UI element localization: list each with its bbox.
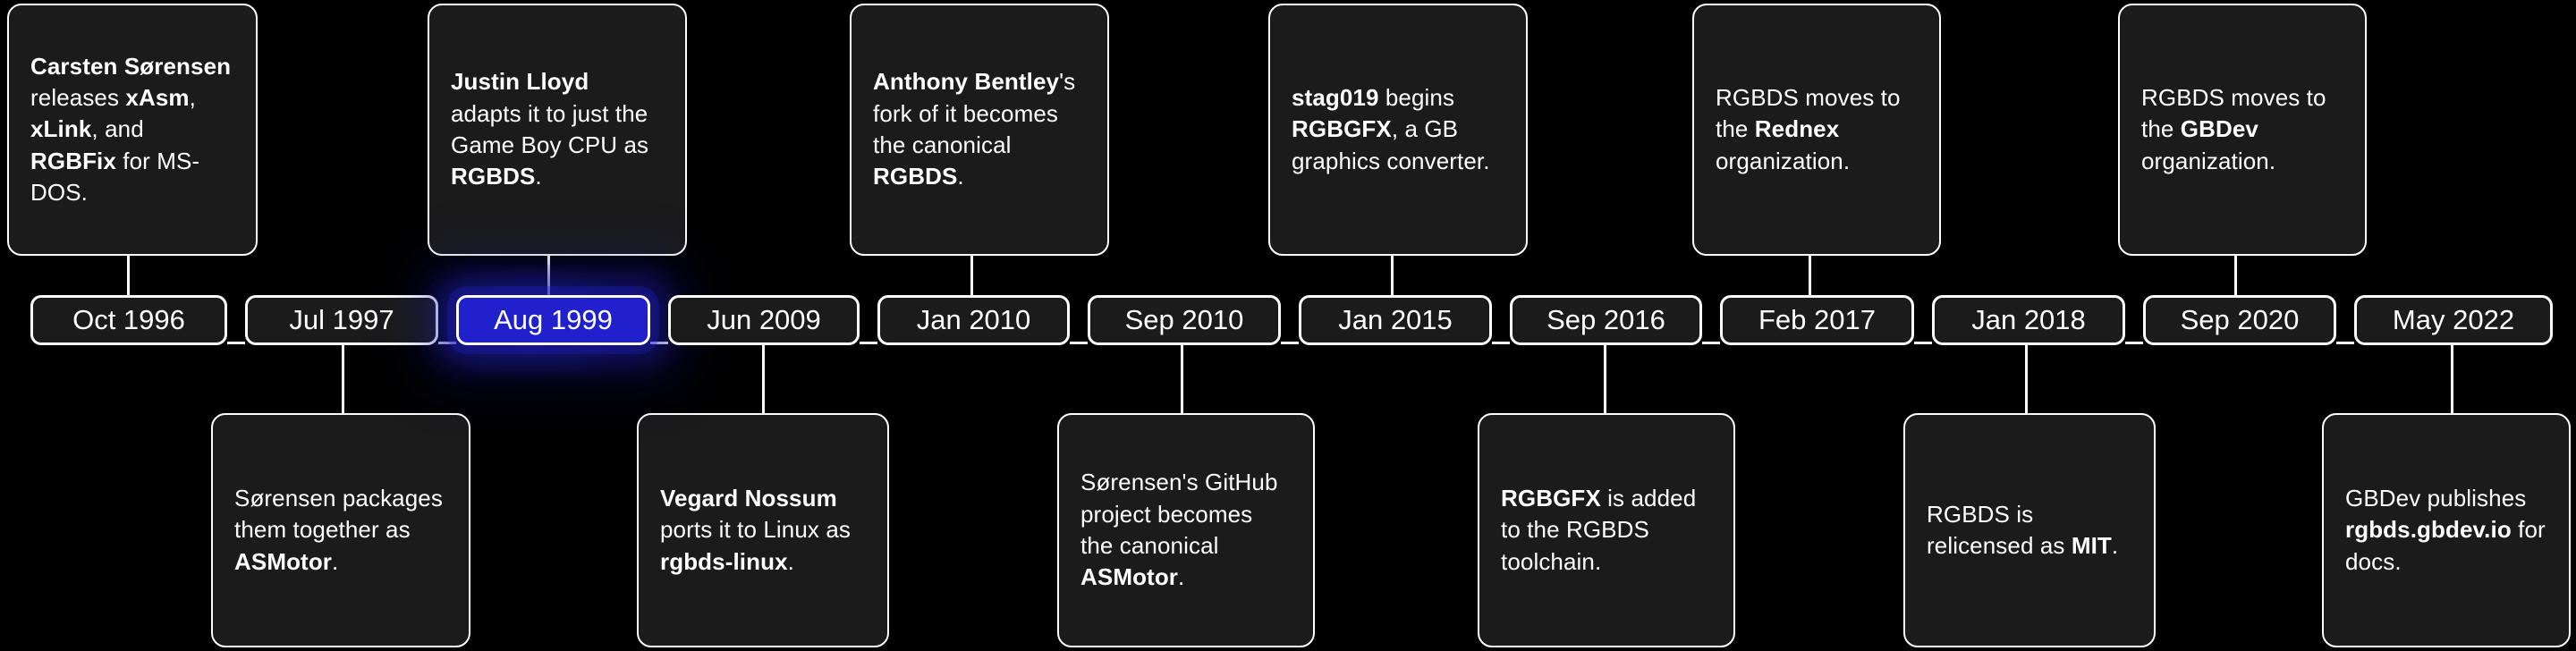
pill-link-9: [1914, 342, 1932, 344]
connector-sep-2020: [2234, 256, 2237, 297]
connector-may-2022: [2451, 345, 2453, 413]
event-card-feb-2017[interactable]: RGBDS moves to the Rednex organization.: [1692, 4, 1941, 256]
date-pill-jan-2015[interactable]: Jan 2015: [1299, 295, 1492, 345]
pill-link-6: [1281, 342, 1299, 344]
event-card-jul-1997[interactable]: Sørensen packages them together as ASMot…: [211, 413, 470, 647]
date-pill-label: Sep 2010: [1125, 304, 1244, 335]
connector-sep-2016: [1604, 345, 1606, 413]
connector-jul-1997: [342, 345, 344, 413]
event-card-text: stag019 begins RGBGFX, a GB graphics con…: [1292, 82, 1504, 177]
date-pill-sep-2016[interactable]: Sep 2016: [1510, 295, 1702, 345]
pill-link-11: [2336, 342, 2354, 344]
date-pill-label: Jan 2015: [1338, 304, 1453, 335]
date-pill-label: Jan 2010: [917, 304, 1031, 335]
event-card-jan-2015[interactable]: stag019 begins RGBGFX, a GB graphics con…: [1268, 4, 1528, 256]
pill-link-3: [650, 342, 668, 344]
connector-aug-1999: [547, 256, 550, 297]
event-card-text: GBDev publishes rgbds.gbdev.io for docs.: [2345, 483, 2547, 578]
date-pill-may-2022[interactable]: May 2022: [2354, 295, 2553, 345]
date-pill-label: Jul 1997: [289, 304, 394, 335]
event-card-text: Carsten Sørensen releases xAsm, xLink, a…: [30, 51, 234, 209]
event-card-text: RGBDS is relicensed as MIT.: [1927, 499, 2132, 562]
pill-link-10: [2125, 342, 2143, 344]
event-card-jan-2010[interactable]: Anthony Bentley's fork of it becomes the…: [850, 4, 1109, 256]
date-pill-aug-1999[interactable]: Aug 1999: [456, 295, 650, 345]
event-card-sep-2010[interactable]: Sørensen's GitHub project becomes the ca…: [1057, 413, 1315, 647]
event-card-may-2022[interactable]: GBDev publishes rgbds.gbdev.io for docs.: [2322, 413, 2571, 647]
date-pill-label: Oct 1996: [72, 304, 185, 335]
pill-link-4: [860, 342, 877, 344]
event-card-text: RGBDS moves to the Rednex organization.: [1716, 82, 1918, 177]
event-card-text: Vegard Nossum ports it to Linux as rgbds…: [660, 483, 866, 578]
connector-jun-2009: [762, 345, 765, 413]
date-pill-jun-2009[interactable]: Jun 2009: [668, 295, 860, 345]
date-pill-jan-2010[interactable]: Jan 2010: [877, 295, 1070, 345]
event-card-text: Anthony Bentley's fork of it becomes the…: [873, 66, 1086, 192]
event-card-jan-2018[interactable]: RGBDS is relicensed as MIT.: [1903, 413, 2156, 647]
timeline-diagram: Carsten Sørensen releases xAsm, xLink, a…: [0, 0, 2576, 651]
date-pill-feb-2017[interactable]: Feb 2017: [1720, 295, 1914, 345]
event-card-jun-2009[interactable]: Vegard Nossum ports it to Linux as rgbds…: [637, 413, 889, 647]
connector-jan-2015: [1391, 256, 1394, 297]
date-pill-label: Aug 1999: [494, 304, 613, 335]
pill-link-8: [1702, 342, 1720, 344]
event-card-text: Sørensen packages them together as ASMot…: [234, 483, 447, 578]
event-card-oct-1996[interactable]: Carsten Sørensen releases xAsm, xLink, a…: [7, 4, 258, 256]
event-card-text: RGBDS moves to the GBDev organization.: [2141, 82, 2343, 177]
connector-jan-2018: [2025, 345, 2028, 413]
date-pill-label: Sep 2020: [2181, 304, 2300, 335]
event-card-aug-1999[interactable]: Justin Lloyd adapts it to just the Game …: [428, 4, 687, 256]
date-pill-jul-1997[interactable]: Jul 1997: [245, 295, 438, 345]
pill-link-1: [227, 342, 245, 344]
date-pill-label: Jun 2009: [707, 304, 821, 335]
date-pill-jan-2018[interactable]: Jan 2018: [1932, 295, 2125, 345]
date-pill-sep-2020[interactable]: Sep 2020: [2143, 295, 2336, 345]
date-pill-label: Sep 2016: [1546, 304, 1665, 335]
connector-oct-1996: [127, 256, 130, 297]
event-card-sep-2020[interactable]: RGBDS moves to the GBDev organization.: [2118, 4, 2367, 256]
date-pill-oct-1996[interactable]: Oct 1996: [30, 295, 227, 345]
pill-link-7: [1492, 342, 1510, 344]
connector-feb-2017: [1809, 256, 1811, 297]
event-card-text: Justin Lloyd adapts it to just the Game …: [451, 66, 664, 192]
date-pill-sep-2010[interactable]: Sep 2010: [1088, 295, 1281, 345]
connector-jan-2010: [970, 256, 973, 297]
pill-link-2: [438, 342, 456, 344]
date-pill-label: Feb 2017: [1758, 304, 1876, 335]
date-pill-label: May 2022: [2393, 304, 2514, 335]
event-card-text: RGBGFX is added to the RGBDS toolchain.: [1501, 483, 1712, 578]
connector-sep-2010: [1181, 345, 1183, 413]
event-card-sep-2016[interactable]: RGBGFX is added to the RGBDS toolchain.: [1478, 413, 1735, 647]
event-card-text: Sørensen's GitHub project becomes the ca…: [1080, 467, 1292, 593]
date-pill-label: Jan 2018: [1971, 304, 2086, 335]
pill-link-5: [1070, 342, 1088, 344]
